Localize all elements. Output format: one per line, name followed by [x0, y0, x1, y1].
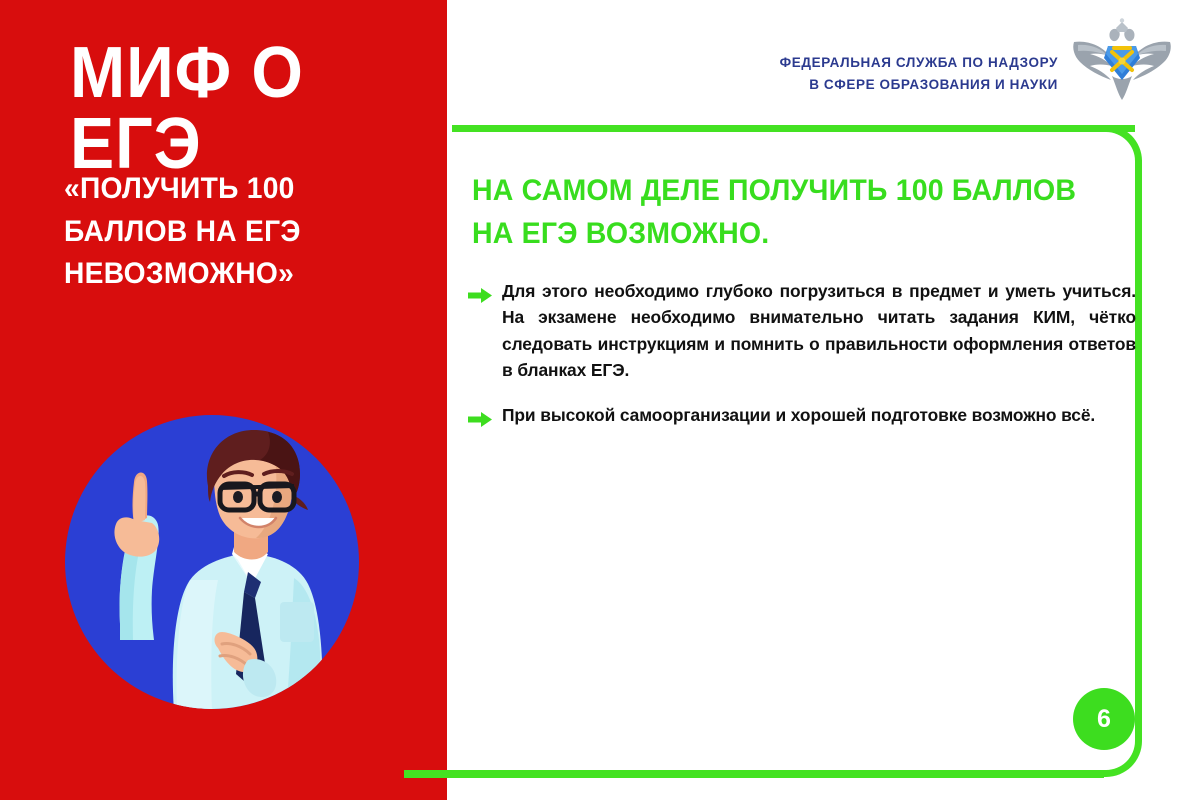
organization-name: ФЕДЕРАЛЬНАЯ СЛУЖБА ПО НАДЗОРУ В СФЕРЕ ОБ…: [780, 52, 1058, 97]
torn-edge-notch: [1184, 0, 1200, 19]
organization-line-1: ФЕДЕРАЛЬНАЯ СЛУЖБА ПО НАДЗОРУ: [780, 52, 1058, 74]
torn-edge-notch: [1184, 86, 1200, 115]
arrow-right-icon: [468, 284, 492, 299]
torn-edge-notch: [1184, 230, 1200, 259]
fact-bullet-item: При высокой самоорганизации и хорошей по…: [468, 402, 1136, 428]
frame-right-border: [1135, 160, 1142, 740]
arrow-right-icon: [468, 408, 492, 423]
student-pointing-up-illustration: [62, 412, 362, 712]
torn-edge-notch: [1184, 662, 1200, 691]
torn-edge-notch: [1184, 182, 1200, 211]
torn-edge-white-strip: [447, 0, 461, 800]
torn-edge-notch: [1184, 566, 1200, 595]
torn-edge-notch: [1184, 374, 1200, 403]
fact-bullet-text: Для этого необходимо глубоко погрузиться…: [502, 281, 1136, 380]
fact-heading: НА САМОМ ДЕЛЕ ПОЛУЧИТЬ 100 БАЛЛОВ НА ЕГЭ…: [472, 170, 1080, 255]
myth-quote-text: «ПОЛУЧИТЬ 100 БАЛЛОВ НА ЕГЭ НЕВОЗМОЖНО»: [64, 168, 384, 296]
torn-edge-notch: [1184, 38, 1200, 67]
fact-bullet-text: При высокой самоорганизации и хорошей по…: [502, 405, 1095, 425]
torn-edge-notch: [1184, 758, 1200, 787]
torn-edge-notch: [1184, 710, 1200, 739]
torn-edge-notch: [1184, 470, 1200, 499]
torn-edge-notch: [1184, 134, 1200, 163]
fact-bullet-list: Для этого необходимо глубоко погрузиться…: [468, 278, 1136, 428]
frame-top-border: [452, 125, 1135, 132]
torn-edge-notch: [1184, 614, 1200, 643]
organization-line-2: В СФЕРЕ ОБРАЗОВАНИЯ И НАУКИ: [780, 74, 1058, 96]
torn-edge-notch: [1184, 326, 1200, 355]
slide-root: МИФ О ЕГЭ «ПОЛУЧИТЬ 100 БАЛЛОВ НА ЕГЭ НЕ…: [0, 0, 1200, 800]
page-title: МИФ О ЕГЭ: [70, 38, 401, 179]
fact-bullet-item: Для этого необходимо глубоко погрузиться…: [468, 278, 1136, 384]
torn-edge-notch: [1184, 518, 1200, 547]
page-number-badge: 6: [1073, 688, 1135, 750]
torn-paper-scalloped-edge: [1184, 0, 1200, 800]
rosobrnadzor-eagle-emblem: [1066, 18, 1178, 102]
torn-edge-notch: [1184, 422, 1200, 451]
frame-bottom-border: [404, 770, 1104, 778]
torn-edge-notch: [1184, 278, 1200, 307]
